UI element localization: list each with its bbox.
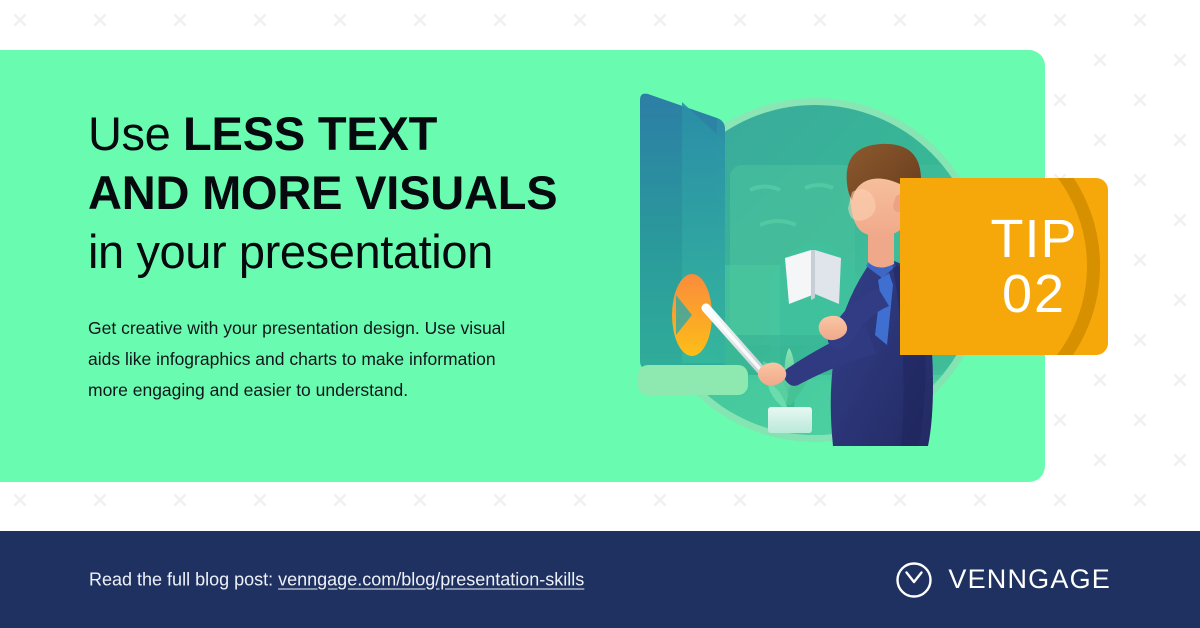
- headline-line1-normal: Use: [88, 107, 183, 160]
- venngage-logo[interactable]: VENNGAGE: [894, 560, 1111, 600]
- body-copy: Get creative with your presentation desi…: [88, 281, 533, 406]
- venngage-circle-mark-icon: [894, 560, 934, 600]
- plant-pot: [768, 407, 812, 433]
- blog-post-link[interactable]: venngage.com/blog/presentation-skills: [278, 569, 584, 589]
- headline-line1-strong: LESS TEXT: [183, 107, 437, 160]
- tip-badge-arc-shading: [900, 178, 1100, 355]
- text-column: Use LESS TEXT AND MORE VISUALS in your p…: [88, 104, 588, 406]
- brand-name: VENNGAGE: [948, 564, 1111, 595]
- open-book: [785, 250, 841, 304]
- footer-read-line: Read the full blog post: venngage.com/bl…: [89, 569, 584, 590]
- tip-badge: TIP 02: [900, 178, 1108, 355]
- page-headline: Use LESS TEXT AND MORE VISUALS in your p…: [88, 104, 588, 281]
- footer-bar: Read the full blog post: venngage.com/bl…: [0, 531, 1200, 628]
- headline-line2-strong: AND MORE VISUALS: [88, 166, 557, 219]
- headline-line3-normal: in your presentation: [88, 225, 493, 278]
- board-base-shelf: [638, 365, 748, 395]
- footer-read-prefix: Read the full blog post:: [89, 569, 278, 589]
- orange-pointer-graphic: [672, 274, 712, 356]
